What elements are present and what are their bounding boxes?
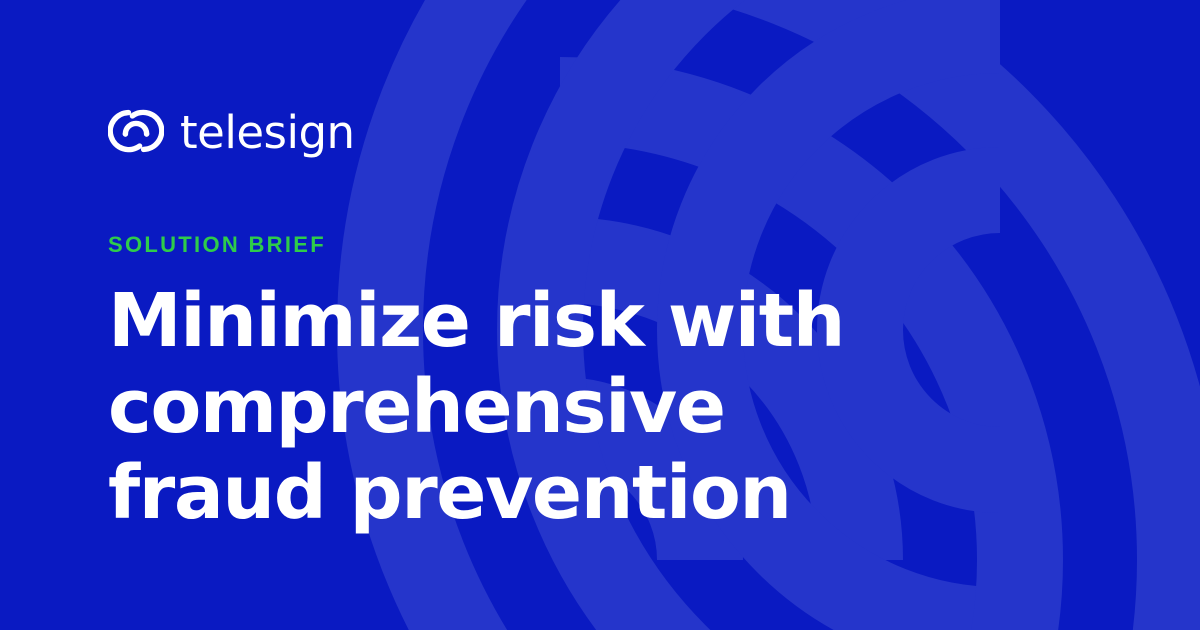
page-title: Minimize risk with comprehensive fraud p…: [108, 279, 988, 536]
headline-line-3: fraud prevention: [108, 451, 988, 537]
telesign-spiral-mark-icon: [108, 103, 164, 159]
telesign-wordmark: telesign: [180, 110, 355, 155]
headline-line-2: comprehensive: [108, 365, 988, 451]
eyebrow-label: SOLUTION BRIEF: [108, 234, 326, 256]
card-content: telesign SOLUTION BRIEF Minimize risk wi…: [0, 0, 1200, 630]
share-card: telesign SOLUTION BRIEF Minimize risk wi…: [0, 0, 1200, 630]
headline-line-1: Minimize risk with: [108, 279, 988, 365]
telesign-logo[interactable]: telesign: [108, 103, 355, 159]
